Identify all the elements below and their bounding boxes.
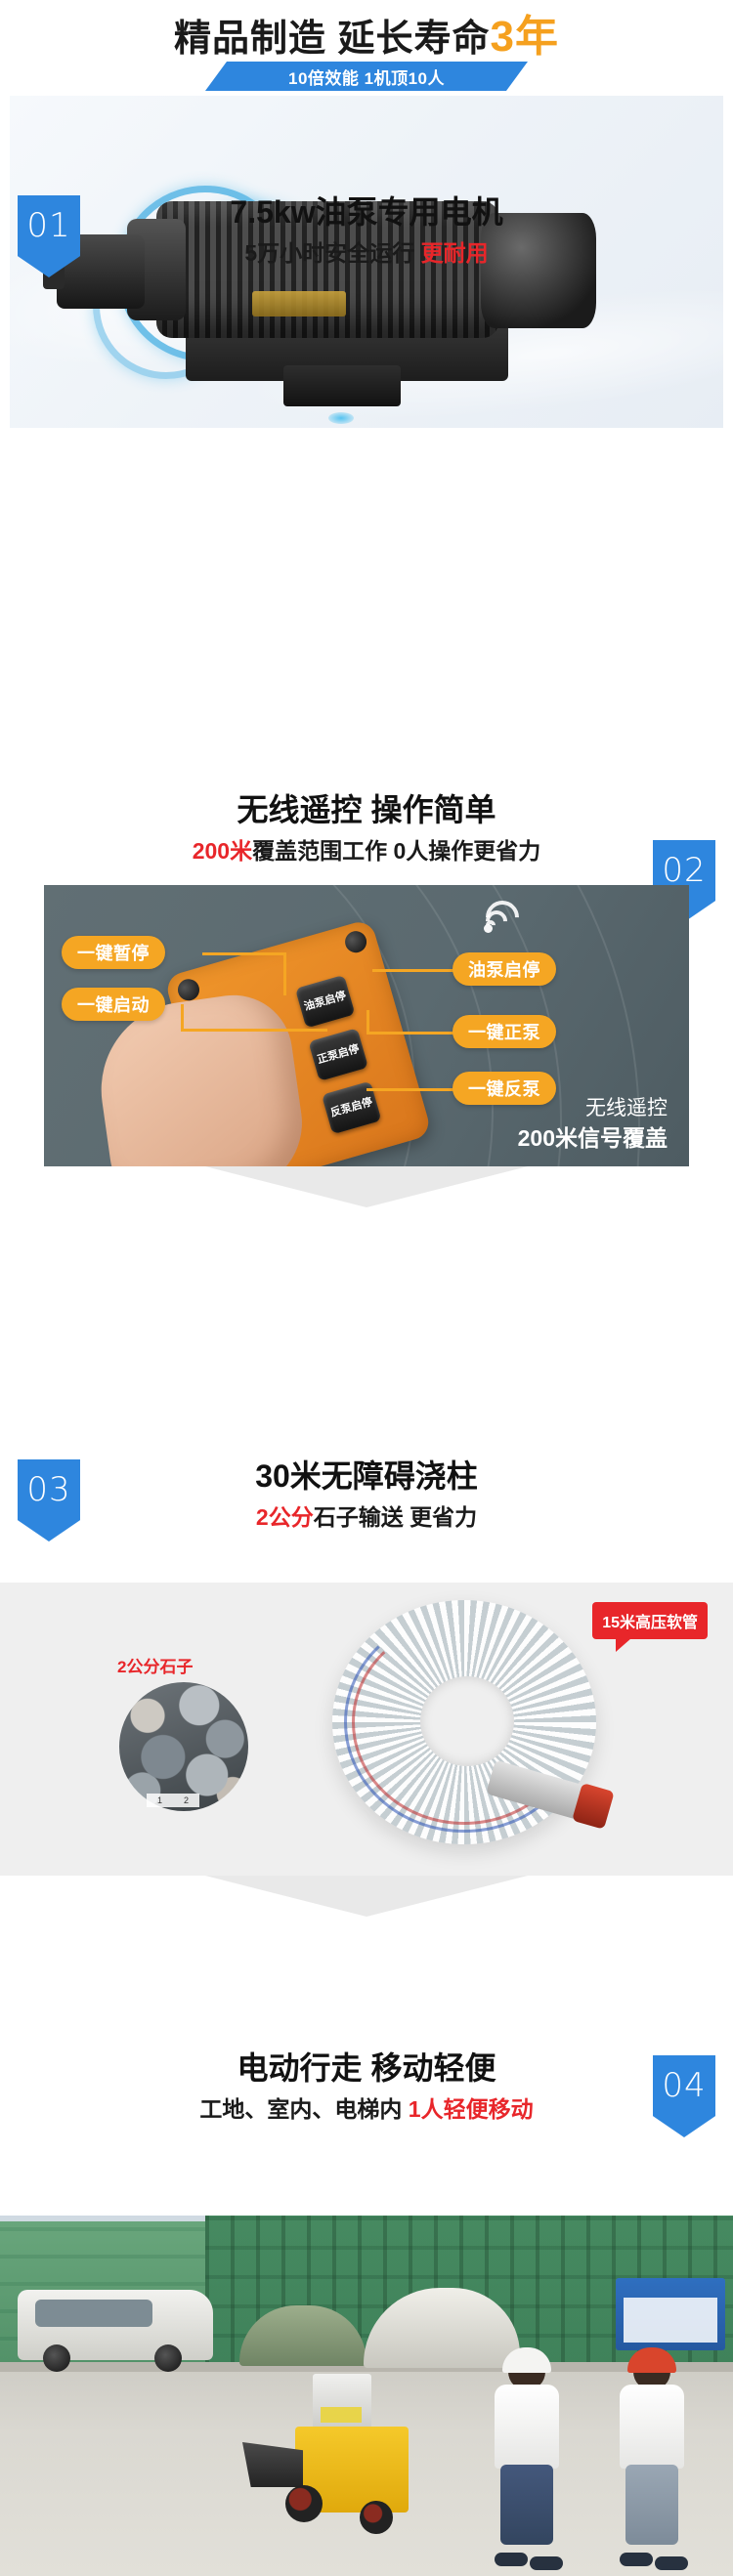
- section-02-caption-line2: 200米信号覆盖: [518, 1123, 668, 1153]
- section-04-image: [0, 2216, 733, 2576]
- safety-notice-board: [616, 2278, 725, 2350]
- callout-lead-line: [181, 1004, 184, 1032]
- machine-wheel: [360, 2501, 393, 2534]
- stone-sample-photo: [119, 1682, 248, 1811]
- section-04-subtitle: 工地、室内、电梯内 1人轻便移动: [0, 2092, 733, 2126]
- machine-hopper: [242, 2442, 303, 2487]
- motor-nameplate: [252, 291, 346, 317]
- callout-lead-line: [181, 1029, 327, 1032]
- section-03-heading: 30米无障碍浇柱 2公分石子输送 更省力: [0, 1456, 733, 1534]
- page-title: 精品制造 延长寿命3年: [0, 0, 733, 64]
- machine-wheel: [285, 2485, 323, 2522]
- hose-coil-center: [420, 1676, 514, 1766]
- ruler-mark-1: 1: [157, 1795, 162, 1805]
- wifi-arc-3: [479, 894, 526, 941]
- remote-button-pump-toggle[interactable]: 油泵启停: [295, 975, 356, 1029]
- section-03-subtitle-highlight: 2公分: [256, 1504, 314, 1530]
- stone-size-label: 2公分石子: [117, 1653, 193, 1677]
- worker-shoe: [655, 2556, 688, 2570]
- worker-bystander: [614, 2353, 690, 2558]
- section-02-image: 停 油泵启停 动 正泵启停 备用 反泵启停 一键暂停 一键启动 油泵启停 一键正…: [44, 885, 689, 1166]
- callout-lead-line: [202, 952, 286, 955]
- worker-shoe: [495, 2553, 528, 2566]
- callout-start: 一键启动: [62, 988, 165, 1021]
- highlight-glow: [328, 412, 354, 424]
- callout-lead-line: [366, 1032, 456, 1035]
- worker-pants: [500, 2465, 553, 2545]
- stone-ruler: 1 2: [147, 1794, 199, 1807]
- van-wheel: [43, 2344, 70, 2372]
- section-02-subtitle: 200米覆盖范围工作 0人操作更省力: [0, 834, 733, 867]
- worker-shirt: [495, 2385, 559, 2469]
- callout-lead-line: [283, 952, 286, 995]
- section-01-subtitle-plain: 5万小时安全运行: [244, 240, 420, 266]
- callout-pump-toggle: 油泵启停: [453, 952, 556, 986]
- hose-length-tag: 15米高压软管: [592, 1602, 708, 1639]
- callout-lead-line: [372, 969, 456, 972]
- section-02-subtitle-plain: 覆盖范围工作 0人操作更省力: [252, 838, 540, 864]
- callout-lead-line: [366, 1088, 456, 1091]
- section-04-subtitle-highlight: 1人轻便移动: [409, 2096, 534, 2122]
- section-01-subtitle: 5万小时安全运行 更耐用: [0, 236, 733, 270]
- worker-shoe: [620, 2553, 653, 2566]
- callout-forward-pump: 一键正泵: [453, 1015, 556, 1048]
- page-title-main: 精品制造 延长寿命: [174, 19, 491, 60]
- header-ribbon-shape: 10倍效能 1机顶10人: [205, 62, 528, 91]
- section-02-caption: 无线遥控 200米信号覆盖: [518, 1094, 668, 1153]
- product-detail-page: 精品制造 延长寿命3年 10倍效能 1机顶10人 01 7.5kw油泵专用电机: [0, 0, 733, 2576]
- section-04-subtitle-plain: 工地、室内、电梯内: [199, 2096, 408, 2122]
- parked-van: [18, 2290, 213, 2360]
- header-ribbon: 10倍效能 1机顶10人: [205, 62, 528, 91]
- section-divider-notch: [0, 1876, 733, 1917]
- worker-shoe: [530, 2556, 563, 2570]
- worker-operator: [489, 2353, 565, 2558]
- page-title-accent: 3年: [491, 13, 559, 61]
- ruler-mark-2: 2: [184, 1795, 189, 1805]
- motor-mount-foot: [283, 365, 401, 406]
- section-03-subtitle: 2公分石子输送 更省力: [0, 1500, 733, 1534]
- section-04-title: 电动行走 移动轻便: [0, 2048, 733, 2089]
- section-01-subtitle-highlight: 更耐用: [421, 240, 489, 266]
- section-03-subtitle-plain: 石子输送 更省力: [314, 1504, 477, 1530]
- worker-shirt: [620, 2385, 684, 2469]
- van-wheel: [154, 2344, 182, 2372]
- concrete-pump-machine: [242, 2391, 418, 2540]
- section-03-title: 30米无障碍浇柱: [0, 1456, 733, 1497]
- section-03-image: 15米高压软管 2公分石子 1 2: [0, 1583, 733, 1876]
- remote-button-forward[interactable]: 正泵启停: [308, 1028, 368, 1081]
- section-02-title: 无线遥控 操作简单: [0, 789, 733, 830]
- section-divider-notch: [0, 1166, 733, 1207]
- callout-pause: 一键暂停: [62, 936, 165, 969]
- header-ribbon-label: 10倍效能 1机顶10人: [288, 64, 445, 89]
- section-02-heading: 无线遥控 操作简单 200米覆盖范围工作 0人操作更省力: [0, 789, 733, 867]
- section-04-heading: 电动行走 移动轻便 工地、室内、电梯内 1人轻便移动: [0, 2048, 733, 2126]
- section-02-subtitle-highlight: 200米: [193, 838, 252, 864]
- worker-pants: [625, 2465, 678, 2545]
- machine-control-panel: [313, 2374, 371, 2434]
- section-01-heading: 7.5kw油泵专用电机 5万小时安全运行 更耐用: [0, 191, 733, 270]
- remote-screw: [342, 929, 368, 955]
- section-01-title: 7.5kw油泵专用电机: [0, 191, 733, 232]
- wifi-signal-icon: [482, 897, 529, 934]
- section-02-caption-line1: 无线遥控: [518, 1094, 668, 1123]
- callout-lead-line: [366, 1010, 369, 1034]
